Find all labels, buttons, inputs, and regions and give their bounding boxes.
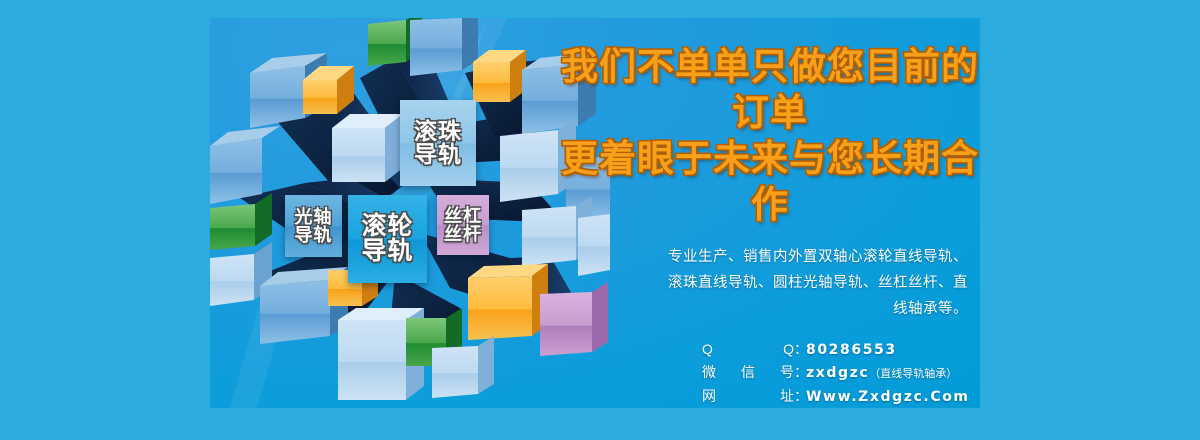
cube-label-sigang-sigan: 丝杠 丝杆 <box>437 195 489 255</box>
contact-value-qq: 80286553 <box>806 339 897 361</box>
cube-label-line1: 光轴 <box>295 208 333 226</box>
marketing-copy-column: 我们不单单只做您目前的订单 更着眼于未来与您长期合作 专业生产、销售内外置双轴心… <box>560 18 980 408</box>
contact-value-website-1[interactable]: Www.Zxdgzc.Com <box>806 386 970 408</box>
contact-block: Q Q ： 80286553 微信号 ： zxdgzc （直线导轨轴承） 网址 … <box>560 338 980 408</box>
contact-value-wechat: zxdgzc <box>806 362 869 384</box>
cube-label-line2: 导轨 <box>361 239 413 265</box>
cube-label-gunzhu-daogui: 滚珠 导轨 <box>400 100 476 186</box>
description-line-2: 滚珠直线导轨、圆柱光轴导轨、丝杠丝杆、直 <box>560 270 968 296</box>
cube-label-line1: 滚珠 <box>414 120 462 143</box>
contact-colon: ： <box>794 385 806 407</box>
cube-label-line2: 导轨 <box>414 143 462 166</box>
contact-colon: ： <box>794 338 806 360</box>
contact-row-website-1[interactable]: 网址 ： Www.Zxdgzc.Com <box>702 385 980 408</box>
cube-label-line2: 丝杆 <box>444 225 482 243</box>
contact-label: 网址 <box>702 385 794 407</box>
promo-banner: 滚珠 导轨 光轴 导轨 滚轮 导轨 丝杠 丝杆 我们不单单只做您目前的订单 更着… <box>0 0 1200 440</box>
description-line-1: 专业生产、销售内外置双轴心滚轮直线导轨、 <box>560 244 968 270</box>
contact-label: 微信号 <box>702 361 794 383</box>
headline-line-1: 我们不单单只做您目前的订单 <box>560 44 980 136</box>
contact-label: Q Q <box>702 338 794 360</box>
contact-colon: ： <box>794 361 806 383</box>
banner-panel: 滚珠 导轨 光轴 导轨 滚轮 导轨 丝杠 丝杆 我们不单单只做您目前的订单 更着… <box>210 18 980 408</box>
description-line-3: 线轴承等。 <box>560 296 968 322</box>
contact-row-qq: Q Q ： 80286553 <box>702 338 980 361</box>
cube-label-line1: 滚轮 <box>361 214 413 240</box>
cube-label-line2: 导轨 <box>295 226 333 244</box>
headline-line-2: 更着眼于未来与您长期合作 <box>560 136 980 228</box>
contact-row-wechat: 微信号 ： zxdgzc （直线导轨轴承） <box>702 361 980 385</box>
contact-note-wechat: （直线导轨轴承） <box>869 363 957 385</box>
headline: 我们不单单只做您目前的订单 更着眼于未来与您长期合作 <box>560 44 980 228</box>
description: 专业生产、销售内外置双轴心滚轮直线导轨、 滚珠直线导轨、圆柱光轴导轨、丝杠丝杆、… <box>560 244 980 322</box>
cube-label-guangzhou-daogui: 光轴 导轨 <box>285 195 342 257</box>
cube-label-line1: 丝杠 <box>444 207 482 225</box>
cube-label-gunlun-daogui: 滚轮 导轨 <box>348 195 427 283</box>
